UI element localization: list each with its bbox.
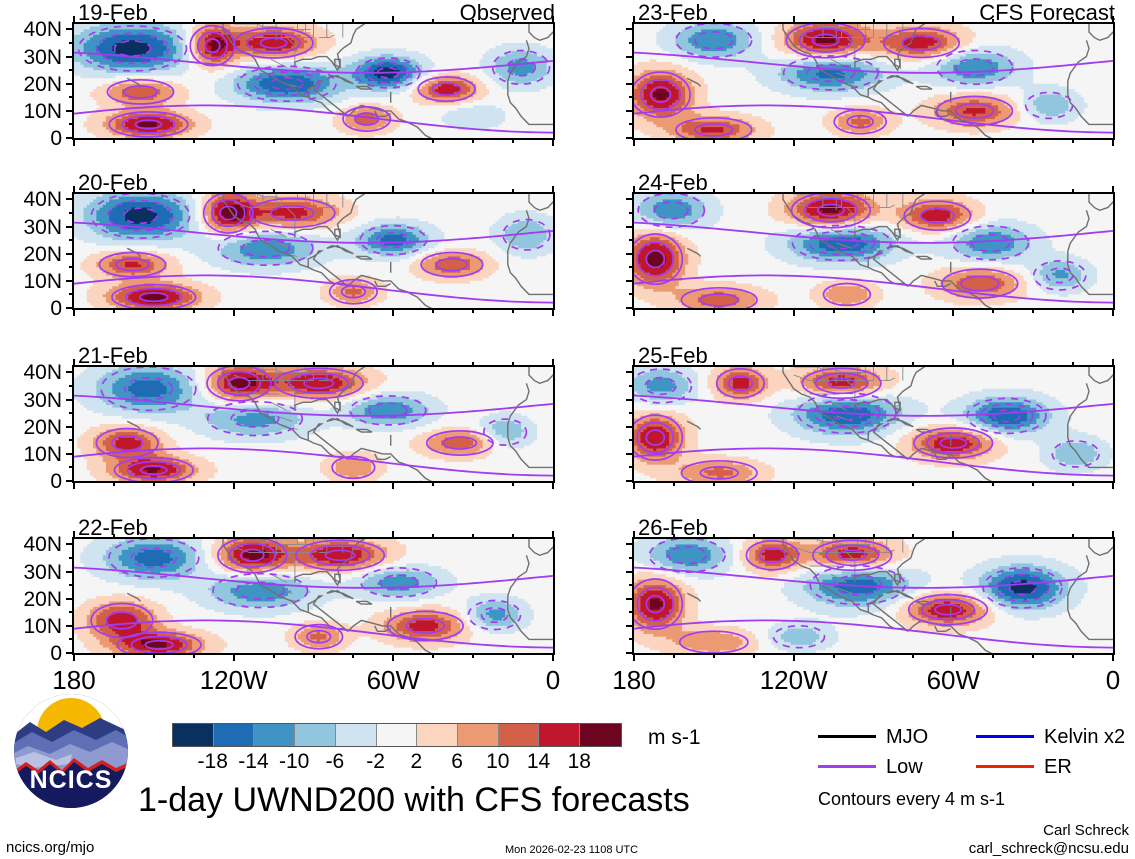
x-axis-minor-tick bbox=[432, 653, 434, 658]
x-axis-minor-tick bbox=[352, 189, 354, 194]
x-axis-minor-tick bbox=[1072, 138, 1074, 143]
x-axis-tick bbox=[233, 138, 235, 146]
x-axis-tick bbox=[552, 308, 554, 316]
x-axis-tick bbox=[392, 16, 394, 24]
x-axis-minor-tick bbox=[833, 138, 835, 143]
y-axis-tick bbox=[626, 280, 634, 282]
y-axis-label: 20N bbox=[0, 244, 62, 265]
contour-interval-note: Contours every 4 m s-1 bbox=[818, 790, 1005, 808]
y-axis-label: 10N bbox=[0, 444, 62, 465]
x-axis-label: 0 bbox=[1053, 667, 1135, 693]
y-axis-tick bbox=[66, 371, 74, 373]
map-panel bbox=[632, 537, 1115, 655]
map-contour-fill bbox=[74, 24, 553, 138]
y-axis-minor-tick bbox=[69, 212, 74, 214]
x-axis-tick bbox=[1112, 359, 1114, 367]
x-axis-minor-tick bbox=[992, 653, 994, 658]
x-axis-minor-tick bbox=[912, 138, 914, 143]
x-axis-tick bbox=[793, 308, 795, 316]
y-axis-minor-tick bbox=[69, 96, 74, 98]
legend-line-low bbox=[818, 765, 876, 768]
x-axis-minor-tick bbox=[1032, 19, 1034, 24]
map-contour-fill bbox=[74, 194, 553, 308]
x-axis-tick bbox=[1112, 531, 1114, 539]
x-axis-minor-tick bbox=[313, 138, 315, 143]
x-axis-label: 60W bbox=[893, 667, 1013, 693]
y-axis-label: 0 bbox=[0, 643, 62, 664]
x-axis-tick bbox=[233, 481, 235, 489]
colorbar-segment bbox=[580, 724, 621, 746]
x-axis-minor-tick bbox=[352, 653, 354, 658]
x-axis-label: 120W bbox=[174, 667, 294, 693]
x-axis-tick bbox=[392, 138, 394, 146]
x-axis-tick bbox=[633, 16, 635, 24]
x-axis-minor-tick bbox=[472, 534, 474, 539]
x-axis-minor-tick bbox=[873, 481, 875, 486]
x-axis-tick bbox=[73, 186, 75, 194]
x-axis-minor-tick bbox=[512, 19, 514, 24]
y-axis-tick bbox=[66, 110, 74, 112]
x-axis-tick bbox=[793, 16, 795, 24]
x-axis-minor-tick bbox=[193, 19, 195, 24]
y-axis-minor-tick bbox=[629, 293, 634, 295]
x-axis-minor-tick bbox=[912, 308, 914, 313]
colorbar bbox=[172, 723, 622, 747]
x-axis-tick bbox=[73, 531, 75, 539]
legend-line-er bbox=[976, 765, 1034, 768]
y-axis-tick bbox=[66, 253, 74, 255]
x-axis-minor-tick bbox=[873, 362, 875, 367]
x-axis-minor-tick bbox=[673, 19, 675, 24]
y-axis-minor-tick bbox=[69, 439, 74, 441]
x-axis-minor-tick bbox=[673, 362, 675, 367]
x-axis-minor-tick bbox=[193, 189, 195, 194]
x-axis-tick bbox=[233, 531, 235, 539]
x-axis-label: 120W bbox=[734, 667, 854, 693]
y-axis-label: 30N bbox=[0, 47, 62, 68]
legend-label: Low bbox=[886, 757, 923, 777]
x-axis-tick bbox=[633, 481, 635, 489]
x-axis-minor-tick bbox=[1072, 362, 1074, 367]
x-axis-minor-tick bbox=[273, 189, 275, 194]
x-axis-minor-tick bbox=[432, 189, 434, 194]
x-axis-minor-tick bbox=[352, 362, 354, 367]
x-axis-tick bbox=[633, 138, 635, 146]
x-axis-minor-tick bbox=[193, 308, 195, 313]
y-axis-minor-tick bbox=[69, 412, 74, 414]
y-axis-tick bbox=[66, 28, 74, 30]
x-axis-minor-tick bbox=[273, 138, 275, 143]
x-axis-minor-tick bbox=[753, 653, 755, 658]
y-axis-minor-tick bbox=[629, 557, 634, 559]
x-axis-tick bbox=[392, 359, 394, 367]
y-axis-minor-tick bbox=[629, 439, 634, 441]
x-axis-minor-tick bbox=[833, 308, 835, 313]
x-axis-minor-tick bbox=[673, 308, 675, 313]
x-axis-minor-tick bbox=[673, 653, 675, 658]
x-axis-tick bbox=[73, 481, 75, 489]
x-axis-tick bbox=[73, 138, 75, 146]
x-axis-tick bbox=[633, 653, 635, 661]
x-axis-minor-tick bbox=[273, 534, 275, 539]
x-axis-minor-tick bbox=[1072, 19, 1074, 24]
x-axis-minor-tick bbox=[833, 362, 835, 367]
map-panel bbox=[632, 192, 1115, 310]
x-axis-minor-tick bbox=[193, 362, 195, 367]
x-axis-tick bbox=[552, 481, 554, 489]
x-axis-tick bbox=[73, 308, 75, 316]
y-axis-tick bbox=[626, 598, 634, 600]
x-axis-minor-tick bbox=[912, 362, 914, 367]
y-axis-label: 40N bbox=[0, 19, 62, 40]
x-axis-minor-tick bbox=[992, 308, 994, 313]
x-axis-tick bbox=[392, 186, 394, 194]
x-axis-tick bbox=[233, 653, 235, 661]
x-axis-minor-tick bbox=[313, 534, 315, 539]
map-contour-fill bbox=[74, 367, 553, 481]
x-axis-minor-tick bbox=[432, 534, 434, 539]
x-axis-minor-tick bbox=[873, 308, 875, 313]
x-axis-minor-tick bbox=[992, 481, 994, 486]
x-axis-minor-tick bbox=[713, 138, 715, 143]
y-axis-label: 30N bbox=[0, 390, 62, 411]
x-axis-minor-tick bbox=[713, 534, 715, 539]
y-axis-minor-tick bbox=[629, 584, 634, 586]
x-axis-minor-tick bbox=[713, 189, 715, 194]
x-axis-minor-tick bbox=[432, 308, 434, 313]
x-axis-tick bbox=[233, 359, 235, 367]
x-axis-tick bbox=[952, 359, 954, 367]
x-axis-minor-tick bbox=[673, 481, 675, 486]
x-axis-tick bbox=[952, 481, 954, 489]
y-axis-minor-tick bbox=[69, 69, 74, 71]
x-axis-minor-tick bbox=[873, 138, 875, 143]
y-axis-minor-tick bbox=[629, 212, 634, 214]
x-axis-minor-tick bbox=[992, 138, 994, 143]
x-axis-minor-tick bbox=[713, 308, 715, 313]
x-axis-minor-tick bbox=[912, 653, 914, 658]
x-axis-minor-tick bbox=[873, 19, 875, 24]
legend-label: ER bbox=[1044, 757, 1072, 777]
y-axis-label: 30N bbox=[0, 562, 62, 583]
x-axis-minor-tick bbox=[153, 534, 155, 539]
x-axis-tick bbox=[1112, 653, 1114, 661]
x-axis-tick bbox=[1112, 16, 1114, 24]
x-axis-tick bbox=[633, 186, 635, 194]
x-axis-tick bbox=[793, 481, 795, 489]
x-axis-tick bbox=[233, 186, 235, 194]
y-axis-tick bbox=[626, 543, 634, 545]
x-axis-minor-tick bbox=[313, 308, 315, 313]
colorbar-segment bbox=[377, 724, 418, 746]
x-axis-minor-tick bbox=[113, 19, 115, 24]
x-axis-tick bbox=[633, 359, 635, 367]
x-axis-minor-tick bbox=[472, 653, 474, 658]
footer-author: Carl Schreck bbox=[0, 823, 1129, 838]
legend-line-kelvin-x2 bbox=[976, 735, 1034, 738]
y-axis-label: 0 bbox=[0, 298, 62, 319]
x-axis-minor-tick bbox=[1032, 308, 1034, 313]
x-axis-minor-tick bbox=[912, 481, 914, 486]
y-axis-tick bbox=[66, 571, 74, 573]
x-axis-minor-tick bbox=[193, 138, 195, 143]
x-axis-tick bbox=[392, 653, 394, 661]
x-axis-tick bbox=[233, 16, 235, 24]
y-axis-label: 20N bbox=[0, 417, 62, 438]
x-axis-minor-tick bbox=[1072, 481, 1074, 486]
x-axis-minor-tick bbox=[273, 653, 275, 658]
y-axis-minor-tick bbox=[69, 466, 74, 468]
y-axis-label: 10N bbox=[0, 101, 62, 122]
y-axis-minor-tick bbox=[629, 266, 634, 268]
y-axis-tick bbox=[626, 253, 634, 255]
x-axis-minor-tick bbox=[472, 189, 474, 194]
x-axis-minor-tick bbox=[512, 481, 514, 486]
x-axis-tick bbox=[1112, 481, 1114, 489]
page-title: 1-day UWND200 with CFS forecasts bbox=[138, 783, 690, 817]
y-axis-minor-tick bbox=[69, 42, 74, 44]
x-axis-minor-tick bbox=[352, 534, 354, 539]
x-axis-minor-tick bbox=[1032, 362, 1034, 367]
x-axis-minor-tick bbox=[992, 189, 994, 194]
x-axis-minor-tick bbox=[193, 481, 195, 486]
x-axis-minor-tick bbox=[753, 481, 755, 486]
y-axis-tick bbox=[626, 453, 634, 455]
y-axis-minor-tick bbox=[69, 557, 74, 559]
y-axis-label: 40N bbox=[0, 362, 62, 383]
x-axis-minor-tick bbox=[1032, 653, 1034, 658]
x-axis-minor-tick bbox=[512, 534, 514, 539]
x-axis-minor-tick bbox=[873, 653, 875, 658]
y-axis-minor-tick bbox=[629, 42, 634, 44]
y-axis-label: 30N bbox=[0, 217, 62, 238]
x-axis-minor-tick bbox=[472, 308, 474, 313]
y-axis-tick bbox=[626, 226, 634, 228]
colorbar-segment bbox=[214, 724, 255, 746]
x-axis-minor-tick bbox=[472, 138, 474, 143]
y-axis-tick bbox=[66, 226, 74, 228]
x-axis-tick bbox=[233, 308, 235, 316]
y-axis-label: 10N bbox=[0, 271, 62, 292]
x-axis-minor-tick bbox=[153, 481, 155, 486]
x-axis-minor-tick bbox=[352, 19, 354, 24]
x-axis-minor-tick bbox=[432, 481, 434, 486]
x-axis-label: 180 bbox=[14, 667, 134, 693]
y-axis-tick bbox=[66, 598, 74, 600]
x-axis-label: 180 bbox=[574, 667, 694, 693]
y-axis-tick bbox=[66, 426, 74, 428]
ncics-logo: NCICS bbox=[12, 692, 130, 810]
x-axis-tick bbox=[552, 138, 554, 146]
x-axis-tick bbox=[793, 138, 795, 146]
x-axis-minor-tick bbox=[1032, 189, 1034, 194]
x-axis-minor-tick bbox=[753, 308, 755, 313]
x-axis-minor-tick bbox=[1032, 534, 1034, 539]
x-axis-tick bbox=[793, 531, 795, 539]
x-axis-minor-tick bbox=[352, 138, 354, 143]
x-axis-minor-tick bbox=[153, 19, 155, 24]
colorbar-segment bbox=[254, 724, 295, 746]
x-axis-minor-tick bbox=[833, 481, 835, 486]
x-axis-minor-tick bbox=[992, 362, 994, 367]
x-axis-minor-tick bbox=[313, 653, 315, 658]
y-axis-minor-tick bbox=[69, 293, 74, 295]
x-axis-minor-tick bbox=[873, 534, 875, 539]
x-axis-tick bbox=[392, 531, 394, 539]
x-axis-minor-tick bbox=[113, 481, 115, 486]
y-axis-minor-tick bbox=[629, 239, 634, 241]
x-axis-minor-tick bbox=[753, 138, 755, 143]
x-axis-minor-tick bbox=[713, 19, 715, 24]
x-axis-minor-tick bbox=[512, 189, 514, 194]
x-axis-minor-tick bbox=[113, 308, 115, 313]
y-axis-tick bbox=[626, 198, 634, 200]
map-contour-fill bbox=[634, 539, 1113, 653]
x-axis-tick bbox=[952, 16, 954, 24]
colorbar-segment bbox=[499, 724, 540, 746]
x-axis-minor-tick bbox=[153, 189, 155, 194]
x-axis-minor-tick bbox=[713, 481, 715, 486]
x-axis-minor-tick bbox=[512, 308, 514, 313]
x-axis-minor-tick bbox=[352, 308, 354, 313]
map-contour-fill bbox=[634, 194, 1113, 308]
x-axis-tick bbox=[392, 481, 394, 489]
x-axis-minor-tick bbox=[432, 138, 434, 143]
y-axis-minor-tick bbox=[69, 266, 74, 268]
x-axis-minor-tick bbox=[153, 362, 155, 367]
x-axis-tick bbox=[952, 653, 954, 661]
x-axis-minor-tick bbox=[313, 189, 315, 194]
x-axis-minor-tick bbox=[512, 653, 514, 658]
y-axis-tick bbox=[66, 399, 74, 401]
x-axis-minor-tick bbox=[1072, 653, 1074, 658]
map-panel bbox=[72, 22, 555, 140]
x-axis-minor-tick bbox=[833, 653, 835, 658]
y-axis-minor-tick bbox=[69, 611, 74, 613]
x-axis-minor-tick bbox=[273, 19, 275, 24]
map-contour-fill bbox=[74, 539, 553, 653]
x-axis-tick bbox=[73, 16, 75, 24]
y-axis-tick bbox=[626, 83, 634, 85]
x-axis-tick bbox=[73, 359, 75, 367]
y-axis-tick bbox=[66, 56, 74, 58]
x-axis-minor-tick bbox=[992, 534, 994, 539]
x-axis-tick bbox=[952, 531, 954, 539]
x-axis-minor-tick bbox=[673, 138, 675, 143]
x-axis-tick bbox=[73, 653, 75, 661]
x-axis-tick bbox=[392, 308, 394, 316]
y-axis-tick bbox=[66, 543, 74, 545]
x-axis-tick bbox=[952, 186, 954, 194]
y-axis-tick bbox=[626, 56, 634, 58]
x-axis-minor-tick bbox=[193, 534, 195, 539]
map-contour-fill bbox=[634, 367, 1113, 481]
footer-email[interactable]: carl_schreck@ncsu.edu bbox=[0, 841, 1129, 856]
x-axis-tick bbox=[1112, 186, 1114, 194]
y-axis-minor-tick bbox=[629, 385, 634, 387]
y-axis-tick bbox=[66, 280, 74, 282]
x-axis-minor-tick bbox=[912, 534, 914, 539]
y-axis-tick bbox=[626, 371, 634, 373]
y-axis-minor-tick bbox=[629, 412, 634, 414]
y-axis-minor-tick bbox=[629, 466, 634, 468]
map-panel bbox=[632, 365, 1115, 483]
x-axis-minor-tick bbox=[472, 481, 474, 486]
map-panel bbox=[72, 537, 555, 655]
x-axis-minor-tick bbox=[153, 308, 155, 313]
y-axis-minor-tick bbox=[629, 96, 634, 98]
y-axis-label: 0 bbox=[0, 128, 62, 149]
x-axis-minor-tick bbox=[713, 362, 715, 367]
y-axis-tick bbox=[626, 110, 634, 112]
y-axis-minor-tick bbox=[69, 239, 74, 241]
x-axis-tick bbox=[552, 653, 554, 661]
x-axis-minor-tick bbox=[432, 19, 434, 24]
y-axis-minor-tick bbox=[629, 123, 634, 125]
x-axis-minor-tick bbox=[992, 19, 994, 24]
x-axis-tick bbox=[1112, 138, 1114, 146]
x-axis-minor-tick bbox=[313, 19, 315, 24]
x-axis-tick bbox=[552, 531, 554, 539]
x-axis-minor-tick bbox=[912, 19, 914, 24]
x-axis-tick bbox=[552, 186, 554, 194]
y-axis-tick bbox=[626, 28, 634, 30]
legend-label: Kelvin x2 bbox=[1044, 727, 1125, 747]
y-axis-minor-tick bbox=[69, 385, 74, 387]
x-axis-minor-tick bbox=[713, 653, 715, 658]
x-axis-minor-tick bbox=[833, 534, 835, 539]
y-axis-tick bbox=[626, 625, 634, 627]
map-panel bbox=[72, 365, 555, 483]
y-axis-minor-tick bbox=[629, 69, 634, 71]
y-axis-minor-tick bbox=[69, 584, 74, 586]
x-axis-minor-tick bbox=[113, 362, 115, 367]
x-axis-minor-tick bbox=[512, 362, 514, 367]
x-axis-minor-tick bbox=[873, 189, 875, 194]
y-axis-tick bbox=[626, 571, 634, 573]
x-axis-tick bbox=[793, 186, 795, 194]
x-axis-minor-tick bbox=[472, 362, 474, 367]
y-axis-tick bbox=[66, 625, 74, 627]
x-axis-minor-tick bbox=[512, 138, 514, 143]
x-axis-minor-tick bbox=[673, 189, 675, 194]
x-axis-minor-tick bbox=[912, 189, 914, 194]
x-axis-minor-tick bbox=[153, 138, 155, 143]
colorbar-segment bbox=[458, 724, 499, 746]
x-axis-tick bbox=[793, 653, 795, 661]
x-axis-tick bbox=[633, 308, 635, 316]
x-axis-minor-tick bbox=[313, 362, 315, 367]
x-axis-label: 60W bbox=[333, 667, 453, 693]
colorbar-segment bbox=[295, 724, 336, 746]
x-axis-tick bbox=[952, 138, 954, 146]
map-panel bbox=[632, 22, 1115, 140]
x-axis-minor-tick bbox=[753, 362, 755, 367]
colorbar-segment bbox=[539, 724, 580, 746]
y-axis-label: 40N bbox=[0, 534, 62, 555]
x-axis-minor-tick bbox=[432, 362, 434, 367]
x-axis-tick bbox=[793, 359, 795, 367]
colorbar-segment bbox=[336, 724, 377, 746]
x-axis-minor-tick bbox=[1072, 189, 1074, 194]
y-axis-minor-tick bbox=[629, 611, 634, 613]
x-axis-minor-tick bbox=[673, 534, 675, 539]
x-axis-minor-tick bbox=[153, 653, 155, 658]
y-axis-label: 20N bbox=[0, 589, 62, 610]
y-axis-label: 10N bbox=[0, 616, 62, 637]
y-axis-minor-tick bbox=[629, 638, 634, 640]
x-axis-minor-tick bbox=[1072, 308, 1074, 313]
